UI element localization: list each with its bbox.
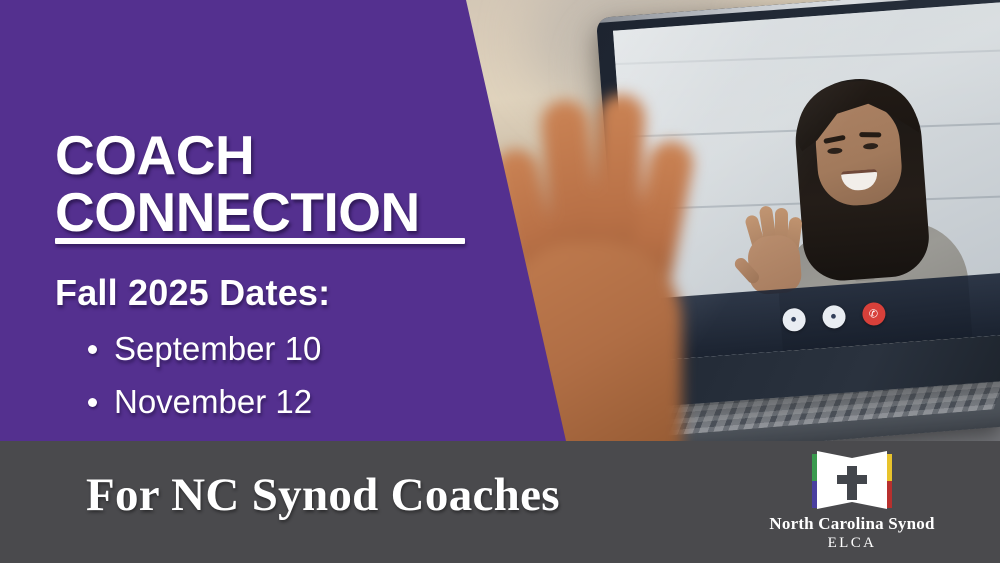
page-title: COACH CONNECTION — [55, 127, 485, 241]
participant-waving-hand — [738, 197, 811, 298]
participant-eyebrow — [859, 132, 881, 137]
palm — [746, 234, 802, 296]
logo-cross-horizontal — [837, 475, 867, 484]
microphone-button[interactable]: ● — [781, 307, 806, 332]
open-book-cross-icon — [800, 449, 904, 511]
logo-denomination: ELCA — [752, 535, 952, 552]
logo-organization-name: North Carolina Synod — [752, 514, 952, 534]
dates-heading: Fall 2025 Dates: — [55, 272, 330, 314]
synod-logo: North Carolina Synod ELCA — [752, 449, 952, 552]
promo-graphic: □ chat ● ● ✆ — [0, 0, 1000, 563]
page-title-line-1: COACH — [55, 127, 485, 184]
page-title-line-2: CONNECTION — [55, 184, 485, 241]
list-item: September 10 — [114, 322, 321, 375]
dates-list: September 10 November 12 — [80, 322, 321, 429]
title-divider — [55, 238, 465, 244]
list-item: November 12 — [114, 375, 321, 428]
camera-button[interactable]: ● — [821, 304, 846, 329]
footer-text: For NC Synod Coaches — [86, 468, 560, 522]
footer-bar: For NC Synod Coaches North Carolina Syno… — [0, 441, 1000, 563]
end-call-button[interactable]: ✆ — [861, 301, 886, 326]
